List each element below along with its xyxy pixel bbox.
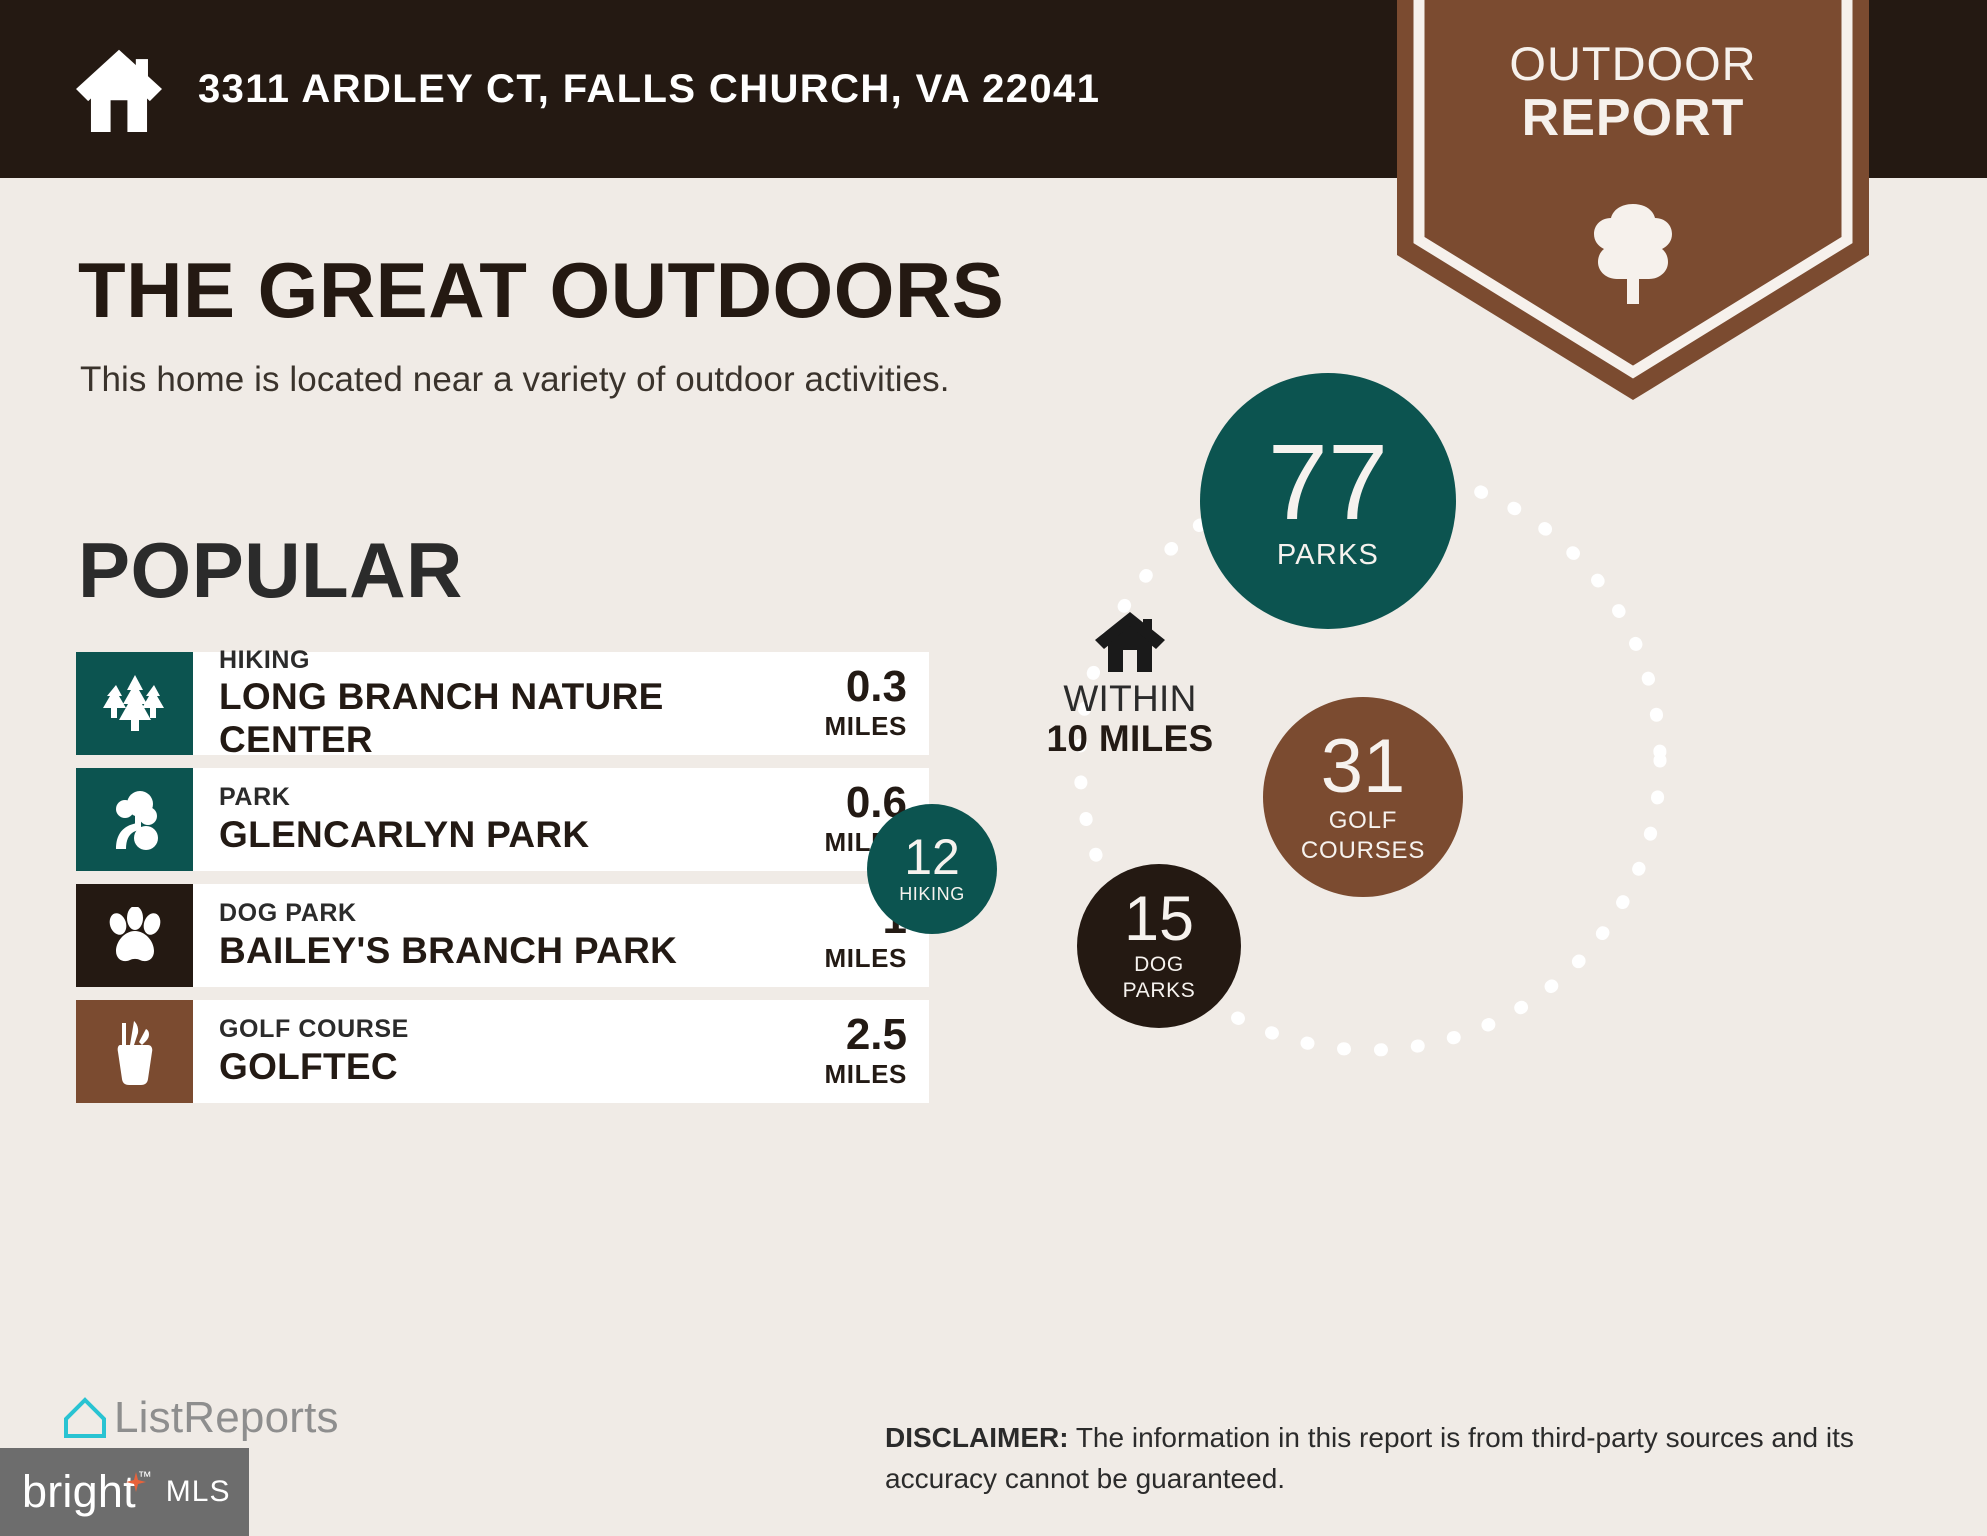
list-item-distance: 0.3: [846, 665, 907, 709]
list-item-icon-box: [76, 652, 193, 755]
bright-word-text: bright: [22, 1466, 136, 1517]
bubble-dog-value: 15: [1124, 890, 1194, 950]
list-item-unit: MILES: [825, 943, 907, 974]
within-line-1: WITHIN: [1030, 679, 1230, 719]
bubble-parks-label: PARKS: [1277, 540, 1379, 570]
disclaimer: DISCLAIMER: The information in this repo…: [885, 1418, 1915, 1499]
paw-print-icon: [104, 907, 166, 965]
list-item-distance: 2.5: [846, 1013, 907, 1057]
bubble-golf-value: 31: [1321, 731, 1406, 803]
bubble-golf-label-1: GOLF: [1329, 808, 1398, 833]
list-item-body: GOLF COURSE GOLFTEC 2.5 MILES: [193, 1000, 929, 1103]
listreports-wordmark: ListReports: [114, 1393, 339, 1443]
list-item-name: GLENCARLYN PARK: [219, 814, 589, 857]
list-item-name: LONG BRANCH NATURE CENTER: [219, 676, 825, 761]
within-line-2: 10 MILES: [1030, 719, 1230, 759]
list-item-icon-box: [76, 1000, 193, 1103]
within-radius-block: WITHIN 10 MILES: [1030, 610, 1230, 759]
list-item-category: GOLF COURSE: [219, 1015, 409, 1044]
list-item[interactable]: GOLF COURSE GOLFTEC 2.5 MILES: [76, 1000, 929, 1103]
golf-bag-icon: [112, 1019, 158, 1085]
list-item-name: GOLFTEC: [219, 1046, 409, 1089]
list-item-category: PARK: [219, 783, 589, 812]
list-item-body: DOG PARK BAILEY'S BRANCH PARK 1 MILES: [193, 884, 929, 987]
bubble-parks: 77 PARKS: [1200, 373, 1456, 629]
listreports-logo: ListReports: [62, 1393, 339, 1443]
list-item-unit: MILES: [825, 1059, 907, 1090]
popular-list: HIKING LONG BRANCH NATURE CENTER 0.3 MIL…: [76, 652, 929, 1116]
bright-wordmark: bright ™: [22, 1466, 136, 1518]
bubble-hiking-value: 12: [904, 834, 960, 882]
bubble-dog-parks: 15 DOG PARKS: [1077, 864, 1241, 1028]
home-icon: [1093, 610, 1167, 672]
bubble-golf-courses: 31 GOLF COURSES: [1263, 697, 1463, 897]
disclaimer-label: DISCLAIMER:: [885, 1422, 1069, 1453]
list-item-name: BAILEY'S BRANCH PARK: [219, 930, 677, 973]
list-item[interactable]: PARK GLENCARLYN PARK 0.6 MILES: [76, 768, 929, 871]
property-address: 3311 ARDLEY CT, FALLS CHURCH, VA 22041: [198, 67, 1100, 112]
home-icon: [72, 46, 166, 132]
popular-heading: POPULAR: [78, 525, 463, 616]
trademark-symbol: ™: [138, 1468, 152, 1484]
list-item-icon-box: [76, 768, 193, 871]
list-item-body: PARK GLENCARLYN PARK 0.6 MILES: [193, 768, 929, 871]
list-item-icon-box: [76, 884, 193, 987]
badge-line-2: REPORT: [1397, 92, 1869, 144]
list-item-category: DOG PARK: [219, 899, 677, 928]
page-title: THE GREAT OUTDOORS: [78, 245, 1004, 336]
list-item-body: HIKING LONG BRANCH NATURE CENTER 0.3 MIL…: [193, 652, 929, 755]
bubble-golf-label-2: COURSES: [1301, 838, 1425, 863]
bubble-dog-label-1: DOG: [1134, 954, 1184, 976]
list-item[interactable]: HIKING LONG BRANCH NATURE CENTER 0.3 MIL…: [76, 652, 929, 755]
bright-mls-logo: bright ™ MLS: [0, 1448, 249, 1536]
bubble-hiking: 12 HIKING: [867, 804, 997, 934]
list-item[interactable]: DOG PARK BAILEY'S BRANCH PARK 1 MILES: [76, 884, 929, 987]
house-outline-icon: [62, 1395, 108, 1441]
outdoor-report-badge: OUTDOOR REPORT: [1397, 0, 1869, 420]
badge-line-1: OUTDOOR: [1397, 40, 1869, 87]
pine-trees-icon: [103, 673, 167, 735]
tree-icon: [1587, 200, 1679, 304]
bubble-parks-value: 77: [1268, 431, 1388, 534]
list-item-unit: MILES: [825, 711, 907, 742]
bubble-hiking-label: HIKING: [899, 885, 965, 904]
list-item-category: HIKING: [219, 646, 825, 675]
page-subtitle: This home is located near a variety of o…: [80, 360, 950, 400]
bubble-dog-label-2: PARKS: [1123, 980, 1196, 1002]
badge-text: OUTDOOR REPORT: [1397, 40, 1869, 144]
mls-text: MLS: [166, 1475, 231, 1509]
park-tree-icon: [104, 789, 166, 851]
